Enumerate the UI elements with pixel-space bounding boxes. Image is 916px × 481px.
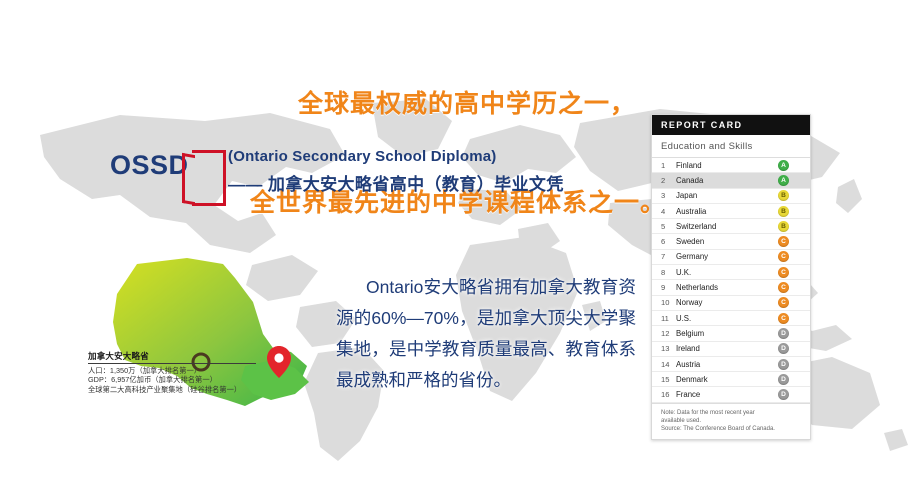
report-card-row: 16FranceD [652,387,810,402]
report-card-row: 10NorwayC [652,296,810,311]
row-country: Ireland [676,344,778,353]
grade-badge-c-icon: C [778,282,789,293]
row-rank: 13 [661,344,676,353]
grade-badge-d-icon: D [778,389,789,400]
grade-badge-b-icon: B [778,221,789,232]
row-country: Belgium [676,329,778,338]
row-rank: 15 [661,375,676,384]
row-rank: 1 [661,161,676,170]
description-paragraph: Ontario安大略省拥有加拿大教育资源的60%—70%，是加拿大顶尖大学聚集地… [336,272,636,396]
info-box-divider [88,363,256,364]
row-country: Finland [676,161,778,170]
row-rank: 8 [661,268,676,277]
row-country: Austria [676,360,778,369]
grade-badge-c-icon: C [778,267,789,278]
report-card-row: 3JapanB [652,189,810,204]
note-line-3: Source: The Conference Board of Canada. [661,425,802,433]
door-icon [192,150,226,206]
province-info-box: 加拿大安大略省 人口：1,350万（加拿大排名第一） GDP：6,957亿加币（… [88,350,260,394]
report-card-panel: REPORT CARD Education and Skills 1Finlan… [651,114,811,440]
report-card-row: 1FinlandA [652,158,810,173]
row-country: Japan [676,191,778,200]
report-card-row: 6SwedenC [652,234,810,249]
row-country: Norway [676,298,778,307]
report-card-row: 4AustraliaB [652,204,810,219]
grade-badge-c-icon: C [778,313,789,324]
report-card-note: Note: Data for the most recent year avai… [652,403,810,439]
row-country: Switzerland [676,222,778,231]
row-country: France [676,390,778,399]
grade-badge-b-icon: B [778,206,789,217]
description-text: Ontario安大略省拥有加拿大教育资源的60%—70%，是加拿大顶尖大学聚集地… [336,277,636,390]
row-rank: 12 [661,329,676,338]
slide-canvas: 全球最权威的高中学历之一， 全世界最先进的中学课程体系之一。 OSSD (Ont… [0,0,916,481]
row-country: U.S. [676,314,778,323]
grade-badge-d-icon: D [778,374,789,385]
report-card-rows: 1FinlandA2CanadaA3JapanB4AustraliaB5Swit… [652,158,810,403]
row-rank: 4 [661,207,676,216]
row-country: Australia [676,207,778,216]
report-card-row: 12BelgiumD [652,326,810,341]
row-rank: 16 [661,390,676,399]
report-card-row: 13IrelandD [652,342,810,357]
row-country: U.K. [676,268,778,277]
ossd-english-subtitle: (Ontario Secondary School Diploma) [228,148,497,165]
row-rank: 10 [661,298,676,307]
row-country: Sweden [676,237,778,246]
report-card-header: REPORT CARD [652,115,810,135]
grade-badge-c-icon: C [778,297,789,308]
door-frame [192,150,226,206]
info-line-tech: 全球第二大高科技产业聚集地（硅谷排名第一） [88,385,260,394]
report-card-row: 9NetherlandsC [652,280,810,295]
info-box-title: 加拿大安大略省 [88,350,260,362]
row-rank: 2 [661,176,676,185]
report-card-row: 14AustriaD [652,357,810,372]
row-country: Germany [676,252,778,261]
report-card-row: 8U.K.C [652,265,810,280]
row-rank: 5 [661,222,676,231]
row-rank: 9 [661,283,676,292]
grade-badge-c-icon: C [778,251,789,262]
ossd-chinese-subtitle: —— 加拿大安大略省高中（教育）毕业文凭 [228,170,564,195]
grade-badge-c-icon: C [778,236,789,247]
row-rank: 7 [661,252,676,261]
location-pin-icon [267,346,291,378]
grade-badge-d-icon: D [778,343,789,354]
grade-badge-a-icon: A [778,160,789,171]
row-rank: 11 [661,314,676,323]
row-country: Netherlands [676,283,778,292]
note-line-2: available used. [661,417,802,425]
report-card-row: 15DenmarkD [652,372,810,387]
report-card-row: 11U.S.C [652,311,810,326]
info-line-population: 人口：1,350万（加拿大排名第一） [88,366,260,375]
grade-badge-a-icon: A [778,175,789,186]
grade-badge-d-icon: D [778,328,789,339]
ossd-acronym: OSSD [110,150,189,181]
door-leaf [182,153,195,205]
report-card-subheader: Education and Skills [652,135,810,158]
row-country: Denmark [676,375,778,384]
info-line-gdp: GDP：6,957亿加币（加拿大排名第一） [88,375,260,384]
row-rank: 14 [661,360,676,369]
grade-badge-d-icon: D [778,359,789,370]
report-card-row: 5SwitzerlandB [652,219,810,234]
grade-badge-b-icon: B [778,190,789,201]
report-card-row: 2CanadaA [652,173,810,188]
row-rank: 3 [661,191,676,200]
row-country: Canada [676,176,778,185]
note-line-1: Note: Data for the most recent year [661,409,802,417]
row-rank: 6 [661,237,676,246]
report-card-row: 7GermanyC [652,250,810,265]
